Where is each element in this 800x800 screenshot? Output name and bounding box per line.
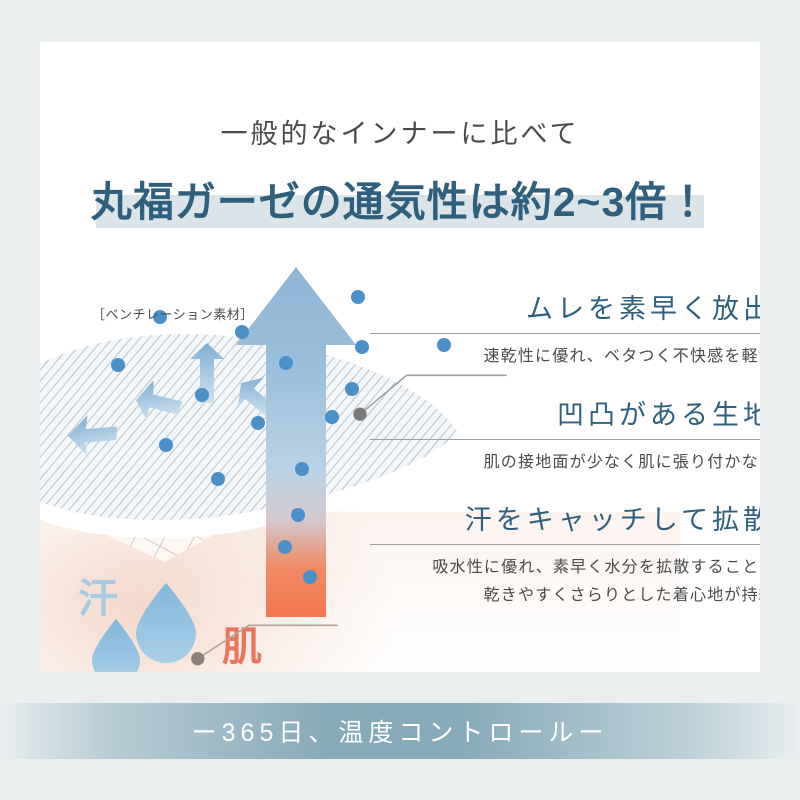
feature-desc-3-line-2: 乾きやすくさらりとした着心地が持続 (370, 582, 760, 610)
feature-desc-3-line-1: 吸水性に優れ、素早く水分を拡散することで (370, 554, 760, 582)
footer-banner: ー365日、温度コントロールー (0, 703, 800, 759)
feature-rule-3 (370, 544, 760, 545)
feature-list: ムレを素早く放出 速乾性に優れ、ベタつく不快感を軽減 凹凸がある生地 肌の接地面… (370, 287, 760, 609)
feature-item-1: ムレを素早く放出 速乾性に優れ、ベタつく不快感を軽減 (370, 287, 760, 371)
skin-character-label: 肌 (222, 614, 263, 672)
infographic-root: 一般的なインナーに比べて 丸福ガーゼの通気性は約2~3倍！ (0, 0, 800, 800)
footer-banner-text: ー365日、温度コントロールー (192, 713, 609, 749)
sweat-character-label: 汗 (78, 566, 119, 624)
ventilation-material-label: ［ベンチレーション素材］ (92, 304, 254, 323)
content-card: 一般的なインナーに比べて 丸福ガーゼの通気性は約2~3倍！ (40, 42, 760, 672)
feature-rule-1 (370, 333, 760, 334)
feature-desc-1: 速乾性に優れ、ベタつく不快感を軽減 (370, 343, 760, 371)
feature-desc-3: 吸水性に優れ、素早く水分を拡散することで 乾きやすくさらりとした着心地が持続 (370, 554, 760, 609)
feature-title-1: ムレを素早く放出 (370, 287, 760, 326)
headline-subtitle: 一般的なインナーに比べて (40, 112, 760, 151)
feature-desc-2: 肌の接地面が少なく肌に張り付かない (370, 449, 760, 477)
feature-title-3: 汗をキャッチして拡散 (370, 498, 760, 537)
feature-item-2: 凹凸がある生地 肌の接地面が少なく肌に張り付かない (370, 393, 760, 477)
feature-item-3: 汗をキャッチして拡散 吸水性に優れ、素早く水分を拡散することで 乾きやすくさらり… (370, 498, 760, 609)
feature-rule-2 (370, 439, 760, 440)
feature-title-2: 凹凸がある生地 (370, 393, 760, 432)
